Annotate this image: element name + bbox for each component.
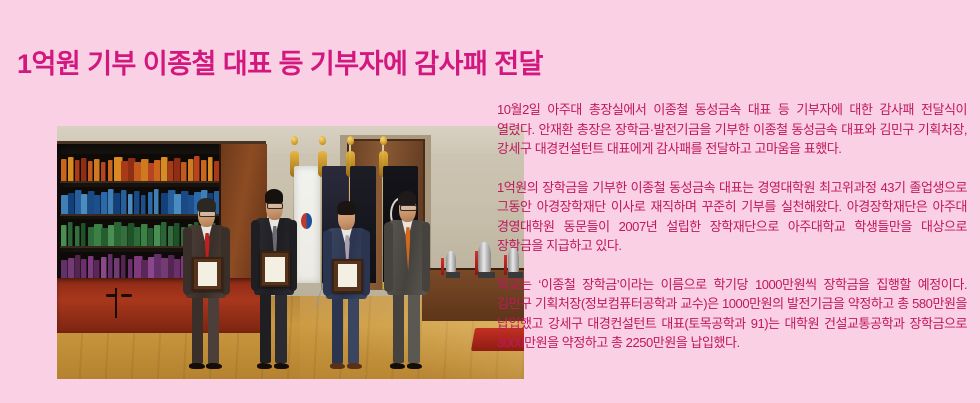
- photo-flag-finial: [319, 136, 326, 145]
- photo-trophy-base: [478, 272, 495, 278]
- photo-person-leg: [260, 285, 272, 363]
- photo-book-spine: [188, 159, 194, 181]
- photo-person-shoe: [274, 363, 289, 369]
- photo-book-spine: [141, 195, 146, 214]
- photo-book-spine: [81, 223, 86, 246]
- photo-book-spine: [88, 161, 93, 181]
- photo-person-shoe: [257, 363, 272, 369]
- photo-book-spine: [88, 256, 94, 279]
- photo-book-spine: [161, 222, 167, 246]
- photo-person-arm: [384, 222, 392, 292]
- photo-person-leg: [208, 289, 220, 363]
- photo-person-glasses: [199, 211, 216, 217]
- article-photo: [57, 126, 524, 379]
- photo-book-spine: [81, 259, 87, 279]
- photo-trophy: [478, 242, 491, 272]
- photo-person-hair: [398, 191, 416, 206]
- photo-trophy-base: [446, 272, 460, 278]
- photo-person: [244, 183, 305, 369]
- photo-book-spine: [61, 225, 66, 247]
- photo-book-spine: [154, 225, 160, 246]
- photo-award-plaque: [332, 259, 363, 293]
- photo-book-spine: [174, 158, 180, 181]
- photo-person-leg: [332, 291, 344, 364]
- photo-book-spine: [154, 189, 159, 213]
- photo-book-spine: [168, 161, 175, 181]
- photo-person-leg: [348, 291, 360, 364]
- photo-person-leg: [192, 289, 204, 363]
- photo-award-plaque: [192, 257, 223, 291]
- photo-book-spine: [94, 260, 100, 279]
- photo-book-spine: [148, 228, 154, 246]
- page-title: 1억원 기부 이종철 대표 등 기부자에 감사패 전달: [17, 46, 957, 82]
- photo-book-spine: [81, 158, 87, 181]
- photo-book-spine: [114, 193, 120, 214]
- photo-book-spine: [121, 190, 127, 214]
- photo-book-spine: [101, 192, 107, 214]
- photo-book-spine: [75, 160, 81, 181]
- photo-book-spine: [128, 194, 134, 214]
- photo-book-spine: [108, 160, 113, 181]
- photo-person-shoe: [189, 363, 204, 369]
- photo-trophy-ribbon: [475, 251, 478, 275]
- photo-book-spine: [94, 159, 99, 181]
- photo-book-spine: [194, 156, 200, 181]
- photo-person-glasses: [400, 205, 417, 211]
- article-paragraph: 10월2일 아주대 총장실에서 이종철 동성금속 대표 등 기부자에 대한 감사…: [497, 100, 967, 159]
- photo-person-hair: [337, 201, 355, 215]
- photo-person-shoe: [330, 363, 345, 369]
- photo-person-arm: [183, 227, 191, 294]
- photo-book-spine: [128, 259, 133, 279]
- photo-person: [176, 192, 237, 369]
- photo-person-leg: [408, 286, 420, 363]
- photo-book-spine: [101, 162, 106, 181]
- photo-person-leg: [275, 285, 287, 363]
- photo-flag-finial: [347, 136, 354, 145]
- photo-book-spine: [121, 255, 126, 279]
- photo-book-spine: [114, 258, 119, 279]
- photo-book-spine: [68, 157, 74, 181]
- photo-book-spine: [201, 160, 207, 181]
- photo-person-arm: [422, 222, 430, 292]
- photo-book-spine: [108, 189, 114, 214]
- photo-person-shoe: [407, 363, 422, 369]
- photo-award-plaque: [260, 251, 291, 287]
- photo-person-glasses: [267, 203, 284, 209]
- photo-book-spine: [168, 226, 174, 246]
- photo-book-spine: [161, 157, 168, 181]
- article-paragraph: 1억원의 장학금을 기부한 이종철 동성금속 대표는 경영대학원 최고위과정 4…: [497, 178, 967, 256]
- photo-trophy: [446, 251, 456, 273]
- photo-person-shoe: [206, 363, 221, 369]
- photo-book-spine: [148, 192, 153, 214]
- photo-book-spine: [61, 159, 67, 181]
- article-paragraph: 학교는 ‘이종철 장학금’이라는 이름으로 학기당 1000만원씩 장학금을 집…: [497, 275, 967, 353]
- photo-book-spine: [181, 162, 187, 181]
- photo-book-spine: [141, 224, 148, 246]
- photo-person: [377, 185, 438, 369]
- photo-person-arm: [323, 230, 331, 296]
- photo-book-spine: [101, 257, 107, 279]
- photo-flag-finial: [380, 136, 387, 145]
- photo-book-spine: [134, 191, 139, 214]
- photo-book-spine: [75, 255, 81, 279]
- photo-book-spine: [68, 222, 73, 246]
- photo-book-spine: [75, 226, 80, 247]
- photo-book-spine: [68, 258, 75, 279]
- photo-person-shoe: [347, 363, 362, 369]
- photo-person: [316, 195, 377, 369]
- photo-person-arm: [251, 220, 259, 291]
- photo-book-spine: [94, 195, 101, 214]
- photo-book-spine: [108, 254, 113, 279]
- photo-trophy-ribbon: [441, 258, 444, 275]
- photo-person-leg: [393, 286, 405, 363]
- photo-person-shoe: [390, 363, 405, 369]
- article-body: 10월2일 아주대 총장실에서 이종철 동성금속 대표 등 기부자에 대한 감사…: [497, 100, 967, 353]
- photo-book-spine: [208, 157, 213, 181]
- article-page: 1억원 기부 이종철 대표 등 기부자에 감사패 전달: [0, 0, 980, 403]
- photo-scene: [57, 126, 524, 379]
- photo-flag-finial: [291, 136, 298, 145]
